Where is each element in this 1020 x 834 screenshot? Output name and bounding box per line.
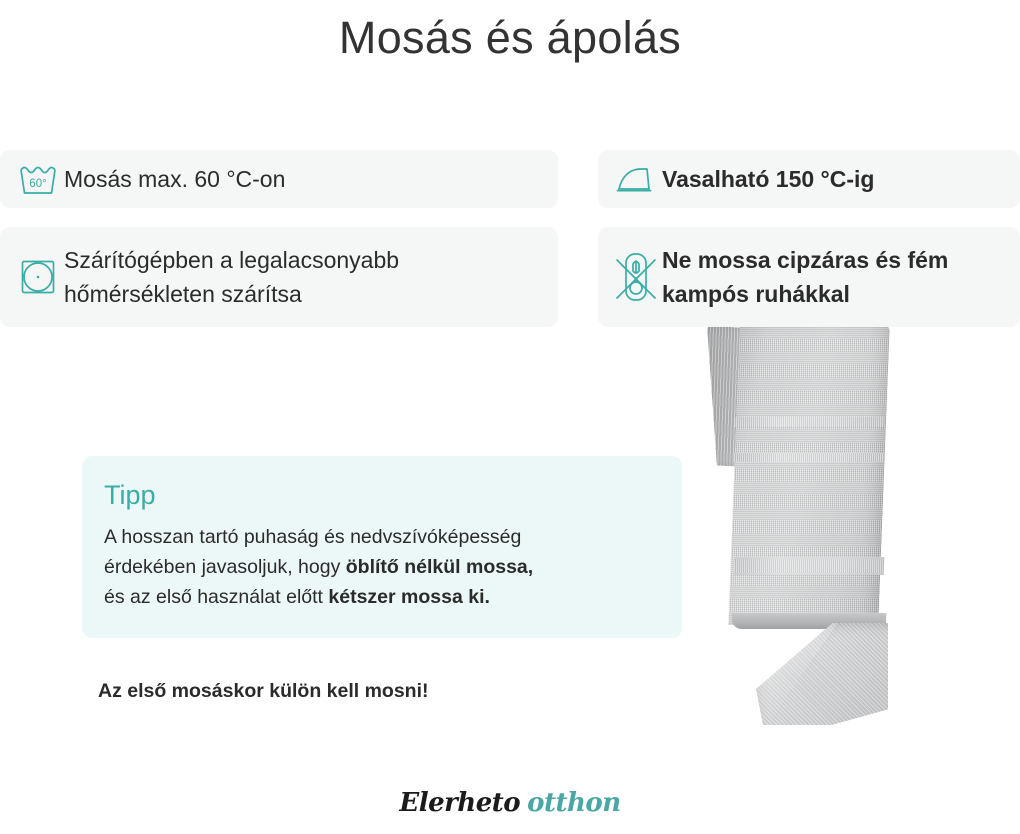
page-title: Mosás és ápolás <box>0 8 1020 68</box>
care-card-wash: 60° Mosás max. 60 °C-on <box>0 150 558 208</box>
care-card-tumble-dry: Szárítógépben a legalacsonyabb hőmérsékl… <box>0 227 558 327</box>
gray-hanging-towel-image <box>700 325 940 725</box>
brand-logo-part1: Elerheto <box>399 788 520 818</box>
brand-logo: Elerhetootthon <box>0 786 1020 820</box>
tip-line-2-prefix: érdekében javasoljuk, hogy <box>104 556 346 578</box>
wash-temp-value: 60° <box>29 178 46 190</box>
towel-stripe <box>734 417 884 427</box>
towel-stripe <box>734 557 885 575</box>
tip-box: Tipp A hosszan tartó puhaság és nedvszív… <box>82 456 682 638</box>
care-card-label: Vasalható 150 °C-ig <box>662 162 884 196</box>
care-instructions-page: Mosás és ápolás 60° Mosás max. 60 °C-on <box>0 0 1020 834</box>
care-card-label: Mosás max. 60 °C-on <box>64 162 295 196</box>
care-card-label: Szárítógépben a legalacsonyabb hőmérsékl… <box>64 243 534 311</box>
towel-body <box>728 325 890 625</box>
first-wash-note: Az első mosáskor külön kell mosni! <box>98 680 429 703</box>
care-card-iron: Vasalható 150 °C-ig <box>598 150 1020 208</box>
no-zipper-wash-icon <box>610 251 662 303</box>
tumble-dry-low-icon <box>12 259 64 295</box>
brand-logo-part2: otthon <box>527 788 621 818</box>
care-card-no-zipper: Ne mossa cipzáras és fém kampós ruhákkal <box>598 227 1020 327</box>
towel-stripe <box>734 453 884 462</box>
tip-line-3-prefix: és az első használat előtt <box>104 586 328 608</box>
tip-body: A hosszan tartó puhaság és nedvszívóképe… <box>104 522 656 612</box>
tip-line-1: A hosszan tartó puhaság és nedvszívóképe… <box>104 526 521 548</box>
tip-title: Tipp <box>104 478 656 512</box>
tip-line-3-bold: kétszer mossa ki. <box>328 586 490 608</box>
tip-line-2-bold: öblítő nélkül mossa, <box>346 556 533 578</box>
wash-tub-60-icon: 60° <box>12 160 64 198</box>
care-card-label: Ne mossa cipzáras és fém kampós ruhákkal <box>662 243 1012 311</box>
iron-icon <box>610 162 662 196</box>
